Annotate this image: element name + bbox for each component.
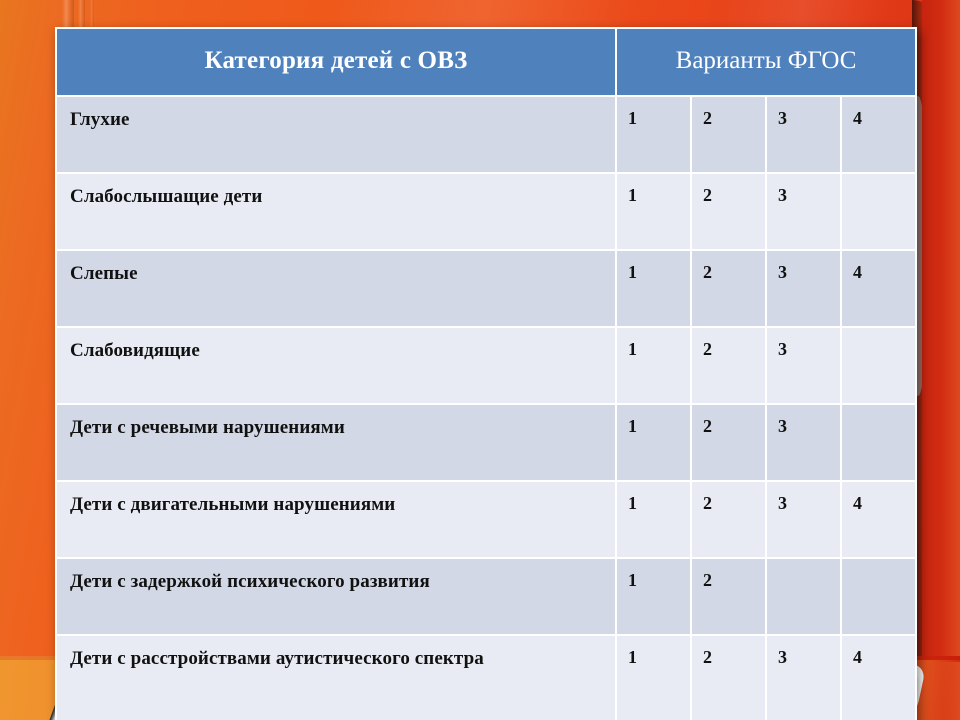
column-header-category: Категория детей с ОВЗ <box>56 28 616 96</box>
cell-variant-1: 1 <box>616 635 691 720</box>
cell-variant-1: 1 <box>616 250 691 327</box>
cell-category: Дети с двигательными нарушениями <box>56 481 616 558</box>
cell-variant-4 <box>841 404 916 481</box>
fgos-table-container: Категория детей с ОВЗ Варианты ФГОС Глух… <box>55 27 916 720</box>
table-row: Слабослышащие дети123 <box>56 173 916 250</box>
cell-variant-1: 1 <box>616 481 691 558</box>
cell-variant-4: 4 <box>841 481 916 558</box>
table-row: Глухие1234 <box>56 96 916 173</box>
cell-variant-1: 1 <box>616 558 691 635</box>
cell-variant-2: 2 <box>691 96 766 173</box>
table-row: Слабовидящие123 <box>56 327 916 404</box>
table-header-row: Категория детей с ОВЗ Варианты ФГОС <box>56 28 916 96</box>
cell-category: Слабослышащие дети <box>56 173 616 250</box>
cell-variant-2: 2 <box>691 173 766 250</box>
cell-variant-4: 4 <box>841 635 916 720</box>
cell-variant-3: 3 <box>766 635 841 720</box>
cell-variant-4 <box>841 327 916 404</box>
table-row: Дети с речевыми нарушениями123 <box>56 404 916 481</box>
cell-variant-4: 4 <box>841 250 916 327</box>
cell-category: Дети с расстройствами аутистического спе… <box>56 635 616 720</box>
cell-variant-2: 2 <box>691 404 766 481</box>
cell-variant-4: 4 <box>841 96 916 173</box>
table-body: Глухие1234Слабослышащие дети123Слепые123… <box>56 96 916 720</box>
cell-variant-3: 3 <box>766 481 841 558</box>
column-header-variants: Варианты ФГОС <box>616 28 916 96</box>
cell-category: Дети с задержкой психического развития <box>56 558 616 635</box>
cell-variant-2: 2 <box>691 481 766 558</box>
cell-variant-2: 2 <box>691 250 766 327</box>
cell-variant-1: 1 <box>616 327 691 404</box>
cell-variant-2: 2 <box>691 327 766 404</box>
cell-category: Слабовидящие <box>56 327 616 404</box>
cell-variant-3: 3 <box>766 327 841 404</box>
cell-variant-1: 1 <box>616 173 691 250</box>
cell-variant-2: 2 <box>691 635 766 720</box>
cell-variant-3: 3 <box>766 96 841 173</box>
table-row: Дети с двигательными нарушениями1234 <box>56 481 916 558</box>
cell-variant-3 <box>766 558 841 635</box>
cell-category: Дети с речевыми нарушениями <box>56 404 616 481</box>
cell-variant-3: 3 <box>766 173 841 250</box>
cell-variant-3: 3 <box>766 404 841 481</box>
cell-variant-2: 2 <box>691 558 766 635</box>
cell-category: Слепые <box>56 250 616 327</box>
fgos-table: Категория детей с ОВЗ Варианты ФГОС Глух… <box>55 27 917 720</box>
table-row: Дети с расстройствами аутистического спе… <box>56 635 916 720</box>
cell-variant-4 <box>841 558 916 635</box>
table-row: Слепые1234 <box>56 250 916 327</box>
table-row: Дети с задержкой психического развития12 <box>56 558 916 635</box>
cell-variant-3: 3 <box>766 250 841 327</box>
cell-variant-1: 1 <box>616 96 691 173</box>
cell-variant-1: 1 <box>616 404 691 481</box>
right-red-edge <box>922 0 960 720</box>
cell-variant-4 <box>841 173 916 250</box>
cell-category: Глухие <box>56 96 616 173</box>
table-header: Категория детей с ОВЗ Варианты ФГОС <box>56 28 916 96</box>
